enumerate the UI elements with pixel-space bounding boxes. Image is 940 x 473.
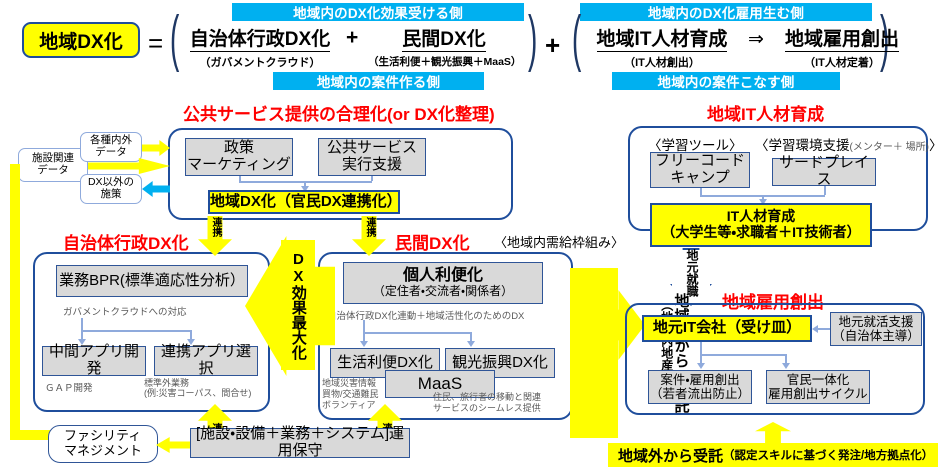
group2-term1: 地域IT人材育成 （IT人材創出） (582, 24, 742, 70)
group1-term1-main: 自治体行政DX化 (190, 24, 330, 52)
group2-operator: ⇒ (748, 28, 764, 51)
arrow-ops-to-facility (156, 437, 192, 453)
group1-band-bottom: 地域内の案件作る側 (273, 72, 484, 90)
banner-outside-order-sub: （認定スキルに基づく発注/地方拠点化） (723, 447, 933, 463)
box-job-support-sub: （自治体主導） (832, 329, 920, 343)
group1-term1: 自治体行政DX化 （ガバメントクラウド） (180, 24, 340, 70)
arrow-various-data-to-panel (142, 140, 170, 156)
label-learning-env: 〈学習環境支援(メンター＋ 場所)〉 (755, 134, 940, 154)
note-private-link: 自治体行政DX化連動＋地域活性化のためのDX (327, 308, 524, 322)
feedback-line-vertical (10, 164, 20, 440)
box-local-it-company: 地元IT会社（受け皿） (642, 315, 812, 342)
box-ops-maint: [施設・設備＋業務＋システム]運用保守 (190, 428, 410, 458)
box-employment-cycle: 官民一体化 雇用創出サイクル (766, 370, 870, 404)
group2-term1-main: 地域IT人材育成 (597, 24, 728, 52)
box-project-employment-sub: （若者流出防止） (650, 387, 750, 401)
label-learning-env-sub: (メンター＋ 場所) (850, 142, 929, 153)
box-facility-data: 施設関連 データ (18, 148, 88, 182)
arrow-cooperation-top-left: 連携 (198, 216, 232, 256)
box-policy-marketing: 政策 マーケティング (185, 138, 293, 176)
box-employment-cycle-sub: 雇用創出サイクル (768, 387, 867, 401)
label-supply-demand: 〈地域内需給枠組み〉 (494, 232, 624, 251)
banner-outside-order-main: 地域外から受託 (618, 445, 723, 466)
group1-paren-left: ( (170, 16, 179, 62)
title-municipal-dx: 自治体行政DX化 (63, 229, 189, 254)
box-personal-convenience-main: 個人利便化 (403, 267, 483, 285)
box-it-hr-main: IT人材育成 (727, 209, 795, 225)
private-connector-v-top (363, 320, 365, 332)
arrow-cooperation-top-right: 連携 (352, 216, 386, 256)
group2-term1-sub: （IT人材創出） (582, 54, 742, 70)
box-it-hr-sub: （大学生等・求職者＋IT技術者） (661, 225, 860, 241)
label-learning-tool: 〈学習ツール〉 (648, 134, 743, 154)
box-app-select: 連携アプリ選択 (154, 346, 258, 376)
arrow-cooperation-top-right-label: 連携 (364, 217, 374, 237)
box-project-employment: 案件・雇用創出 （若者流出防止） (648, 370, 752, 404)
group2-band-top: 地域内のDX化雇用生む側 (580, 3, 872, 21)
job-support-connector (818, 328, 830, 330)
box-free-code-camp: フリーコード キャンプ (650, 152, 750, 188)
equation-lhs-label: 地域DX化 (39, 27, 122, 54)
private-arrow-left (360, 341, 368, 347)
box-various-data: 各種内外 データ (80, 132, 142, 162)
box-third-place: サードプレイス (772, 158, 876, 186)
group1-band-top: 地域内のDX化効果受ける側 (232, 3, 524, 21)
title-public-service: 公共サービス提供の合理化(or DX化整理) (183, 100, 495, 125)
private-connector-h (363, 332, 471, 334)
public-service-connector-h (239, 181, 372, 183)
group2-paren-left: ( (572, 16, 581, 62)
box-project-employment-main: 案件・雇用創出 (660, 373, 739, 387)
group1-term2: 民間DX化 （生活利便＋観光振興＋MaaS） (368, 24, 520, 69)
label-learning-env-close: 〉 (929, 138, 940, 153)
public-service-connector-v2 (371, 176, 373, 181)
box-personal-convenience-sub: （定住者・交流者・関係者） (373, 285, 513, 298)
box-job-support: 地元就活支援 （自治体主導） (830, 312, 922, 346)
band-local-order: 地域内からの受託 （地域内地産地消） (570, 268, 618, 438)
box-public-service-exec: 公共サービス 実行支援 (318, 138, 426, 176)
box-job-support-main: 地元就活支援 (838, 315, 913, 329)
note-middleware: ＧＡＰ開発 (45, 380, 93, 394)
group2-term2: 地域雇用創出 （IT人材定着） (772, 24, 912, 70)
equation-plus-outer: + (545, 30, 560, 61)
group1-term2-sub: （生活利便＋観光振興＋MaaS） (368, 54, 520, 69)
employment-arrow-left (697, 363, 705, 369)
arrow-outside-order (755, 422, 791, 444)
municipal-connector-v-top (81, 318, 83, 330)
box-facility-mgmt: ファシリティ マネジメント (48, 425, 158, 463)
group1-term2-main: 民間DX化 (402, 24, 485, 52)
note-private-left: 地域災害情報 買物/交通難民 ボランティア (322, 378, 379, 410)
equation-equals: = (148, 28, 163, 59)
private-arrow-right (467, 341, 475, 347)
label-dx-effect-max-text: DX効果最大化 (290, 251, 306, 360)
box-employment-cycle-main: 官民一体化 (787, 373, 850, 387)
it-hr-connector-v1 (700, 188, 702, 195)
label-dx-effect-max: DX効果最大化 (281, 240, 315, 370)
box-middleware: 中間アプリ開発 (42, 346, 146, 376)
employment-arrow-right (782, 363, 790, 369)
box-it-hr: IT人材育成 （大学生等・求職者＋IT技術者） (650, 203, 872, 247)
equation-lhs-box: 地域DX化 (22, 22, 140, 58)
title-private-dx: 民間DX化 (395, 229, 470, 254)
box-bpr: 業務BPR(標準適応性分析） (56, 265, 248, 297)
it-hr-connector-v2 (824, 186, 826, 195)
arrow-non-dx-from-panel (142, 181, 170, 197)
employment-connector-v-top (700, 342, 702, 354)
note-gov-cloud: ガバメントクラウドへの対応 (63, 304, 187, 318)
group1-operator: + (346, 26, 358, 50)
group1-term1-sub: （ガバメントクラウド） (180, 54, 340, 70)
box-regional-dx: 地域DX化（官民DX連携化） (208, 190, 400, 214)
group1-paren-right: ) (528, 16, 537, 62)
note-app-select: 標準外業務 (例:災害コーパス、間合せ) (144, 378, 251, 399)
group2-term2-main: 地域雇用創出 (785, 24, 899, 52)
banner-outside-order: 地域外から受託 （認定スキルに基づく発注/地方拠点化） (608, 443, 938, 467)
group2-term2-sub: （IT人材定着） (772, 54, 912, 70)
municipal-connector-h (81, 330, 191, 332)
box-non-dx-measures: DX以外の 施策 (80, 174, 142, 204)
public-service-connector-v1 (239, 176, 241, 181)
group2-band-bottom: 地域内の案件こなす側 (612, 72, 840, 90)
job-support-arrow (812, 325, 818, 333)
label-learning-env-main: 〈学習環境支援 (755, 138, 850, 153)
employment-connector-h (700, 354, 786, 356)
arrow-cooperation-top-left-label: 連携 (210, 217, 220, 237)
title-local-it-hr: 地域IT人材育成 (707, 100, 824, 125)
